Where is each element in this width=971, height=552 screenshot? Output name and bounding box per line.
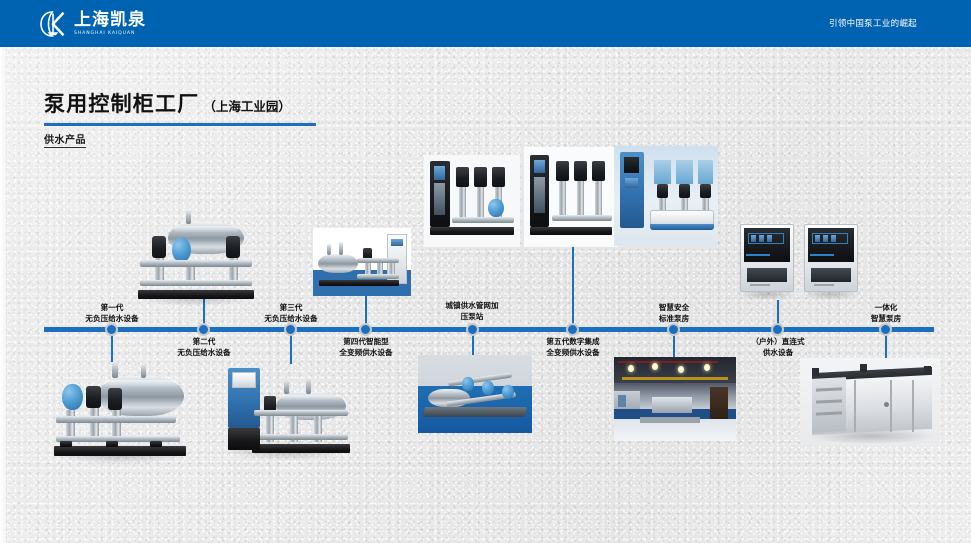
timeline-label-integrated-room: 一体化 智慧泵房: [836, 302, 936, 324]
header-inner: 上海凯泉 SHANGHAI KAIQUAN 引领中国泵工业的崛起: [18, 0, 959, 47]
photo-gen-5-unit-c: [614, 146, 718, 246]
timeline-label-gen-3-line2: 无负压给水设备: [241, 313, 341, 324]
photo-smart-pump-room: [614, 357, 736, 441]
section-label: 供水产品: [44, 131, 86, 148]
timeline-label-gen-3-line1: 第三代: [241, 302, 341, 313]
timeline-label-gen-5-line2: 全变频供水设备: [523, 347, 623, 358]
timeline-label-booster-station: 城镇供水管网加 压泵站: [422, 300, 522, 322]
timeline-label-outdoor-direct: （户外）直连式 供水设备: [728, 336, 828, 358]
timeline-dot-gen-3[interactable]: [284, 323, 297, 336]
photo-outdoor-direct-a: [736, 222, 798, 300]
photo-outdoor-direct-b: [800, 222, 862, 300]
timeline-label-gen-4: 第四代智能型 全变频供水设备: [316, 336, 416, 358]
photo-integrated-pump-room: [800, 358, 940, 444]
page-bottom-edge: [0, 543, 971, 552]
page-title-block: 泵用控制柜工厂 （上海工业园）: [44, 88, 316, 126]
timeline-dot-booster-station[interactable]: [466, 323, 479, 336]
timeline-label-gen-1: 第一代 无负压给水设备: [62, 302, 162, 324]
timeline-dot-integrated-room[interactable]: [879, 323, 892, 336]
timeline-stem-gen-4: [365, 296, 367, 326]
title-underline-rule: [44, 123, 316, 126]
timeline-label-gen-4-line1: 第四代智能型: [316, 336, 416, 347]
timeline-label-outdoor-direct-line1: （户外）直连式: [728, 336, 828, 347]
page-title-parenthetical: （上海工业园）: [203, 96, 291, 115]
timeline-label-gen-2-line2: 无负压给水设备: [154, 347, 254, 358]
timeline-stem-gen-5: [572, 247, 574, 325]
page-left-edge: [0, 47, 6, 552]
timeline-dot-smart-pump-room[interactable]: [667, 323, 680, 336]
slide-root: 上海凯泉 SHANGHAI KAIQUAN 引领中国泵工业的崛起 泵用控制柜工厂…: [0, 0, 971, 552]
photo-gen-1: [46, 358, 194, 466]
timeline-label-smart-pump-room: 智慧安全 标准泵房: [624, 302, 724, 324]
page-title: 泵用控制柜工厂: [44, 88, 199, 118]
timeline-label-integrated-room-line2: 智慧泵房: [836, 313, 936, 324]
timeline-dot-gen-4[interactable]: [359, 323, 372, 336]
photo-gen-4: [313, 228, 411, 296]
page-title-row: 泵用控制柜工厂 （上海工业园）: [44, 88, 316, 118]
kaiquan-logo-icon: [38, 9, 68, 39]
logo-english-name: SHANGHAI KAIQUAN: [74, 32, 146, 37]
timeline-dot-gen-1[interactable]: [105, 323, 118, 336]
photo-gen-5-unit-a: [424, 155, 520, 247]
timeline-label-smart-pump-room-line1: 智慧安全: [624, 302, 724, 313]
timeline-label-gen-4-line2: 全变频供水设备: [316, 347, 416, 358]
timeline-bar: [44, 327, 934, 332]
timeline-dot-gen-2[interactable]: [197, 323, 210, 336]
timeline-dot-gen-5[interactable]: [566, 323, 579, 336]
timeline-label-gen-3: 第三代 无负压给水设备: [241, 302, 341, 324]
timeline-stem-integrated-room: [885, 332, 887, 360]
brand-logo[interactable]: 上海凯泉 SHANGHAI KAIQUAN: [38, 8, 146, 40]
timeline-label-gen-5-line1: 第五代数字集成: [523, 336, 623, 347]
photo-gen-2: [222, 362, 350, 462]
timeline-label-booster-station-line2: 压泵站: [422, 311, 522, 322]
photo-gen-3: [130, 208, 260, 308]
timeline-stem-gen-3: [290, 332, 292, 364]
timeline-label-integrated-room-line1: 一体化: [836, 302, 936, 313]
timeline-label-booster-station-line1: 城镇供水管网加: [422, 300, 522, 311]
timeline-dot-outdoor-direct[interactable]: [771, 323, 784, 336]
photo-gen-5-unit-b: [524, 147, 618, 247]
logo-chinese-name: 上海凯泉: [74, 12, 146, 29]
timeline-label-gen-2: 第二代 无负压给水设备: [154, 336, 254, 358]
timeline-label-gen-1-line2: 无负压给水设备: [62, 313, 162, 324]
timeline-label-outdoor-direct-line2: 供水设备: [728, 347, 828, 358]
logo-text: 上海凯泉 SHANGHAI KAIQUAN: [74, 12, 146, 37]
timeline-label-gen-5: 第五代数字集成 全变频供水设备: [523, 336, 623, 358]
photo-booster-station: [418, 355, 532, 433]
timeline-label-smart-pump-room-line2: 标准泵房: [624, 313, 724, 324]
timeline-label-gen-1-line1: 第一代: [62, 302, 162, 313]
header-bar: 上海凯泉 SHANGHAI KAIQUAN 引领中国泵工业的崛起: [0, 0, 971, 47]
header-tagline: 引领中国泵工业的崛起: [829, 17, 917, 29]
timeline-label-gen-2-line1: 第二代: [154, 336, 254, 347]
